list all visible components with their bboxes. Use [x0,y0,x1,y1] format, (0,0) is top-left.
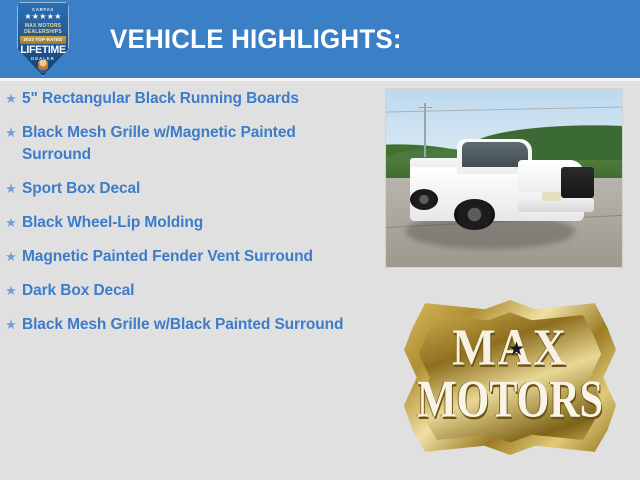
list-item-label: Black Wheel-Lip Molding [22,212,227,234]
logo-text-motors: MOTORS [404,374,616,427]
list-item: ★ Magnetic Painted Fender Vent Surround [0,246,372,268]
list-item: ★ Black Mesh Grille w/Magnetic Painted S… [0,122,372,166]
list-item: ★ 5" Rectangular Black Running Boards [0,88,372,110]
carfax-lifetime-dealer-badge: CARFAX ★★★★★ MAX MOTORS DEALERSHIPS 2023… [17,2,69,76]
list-item: ★ Black Wheel-Lip Molding [0,212,372,234]
header-bar: CARFAX ★★★★★ MAX MOTORS DEALERSHIPS 2023… [0,0,640,78]
list-item-label: 5" Rectangular Black Running Boards [22,88,323,110]
list-item: ★ Sport Box Decal [0,178,372,200]
vehicle-highlights-list: ★ 5" Rectangular Black Running Boards ★ … [0,88,372,348]
logo-star-icon: ★ [508,340,525,359]
list-item-label: Dark Box Decal [22,280,158,302]
max-motors-logo: MAX ★ MOTORS [404,300,616,455]
photo-truck-front-wheel [454,199,494,229]
list-item: ★ Black Mesh Grille w/Black Painted Surr… [0,314,372,336]
photo-truck-grille [561,167,594,197]
list-item: ★ Dark Box Decal [0,280,372,302]
vehicle-highlights-slide: CARFAX ★★★★★ MAX MOTORS DEALERSHIPS 2023… [0,0,640,480]
badge-ribbon: 2023 TOP-RATED [20,36,66,44]
star-bullet-icon: ★ [0,178,22,200]
badge-ribbon-label: 2023 TOP-RATED [20,36,66,44]
vehicle-photo [385,88,623,268]
photo-utility-pole [424,103,426,156]
star-bullet-icon: ★ [0,122,22,144]
list-item-label: Black Mesh Grille w/Black Painted Surrou… [22,314,367,336]
badge-dealer-name-line2: DEALERSHIPS [17,29,69,35]
star-bullet-icon: ★ [0,246,22,268]
star-bullet-icon: ★ [0,280,22,302]
header-divider [0,78,640,81]
photo-truck-rear-wheel [410,189,438,210]
photo-truck-license-plate [542,192,561,201]
badge-stars-icon: ★★★★★ [17,12,69,21]
star-bullet-icon: ★ [0,212,22,234]
badge-mascot-icon [38,60,48,73]
page-title: VEHICLE HIGHLIGHTS: [110,24,402,55]
badge-award-label: LIFETIME [18,44,67,56]
star-bullet-icon: ★ [0,314,22,336]
list-item-label: Sport Box Decal [22,178,164,200]
list-item-label: Black Mesh Grille w/Magnetic Painted Sur… [22,122,372,166]
star-bullet-icon: ★ [0,88,22,110]
list-item-label: Magnetic Painted Fender Vent Surround [22,246,337,268]
